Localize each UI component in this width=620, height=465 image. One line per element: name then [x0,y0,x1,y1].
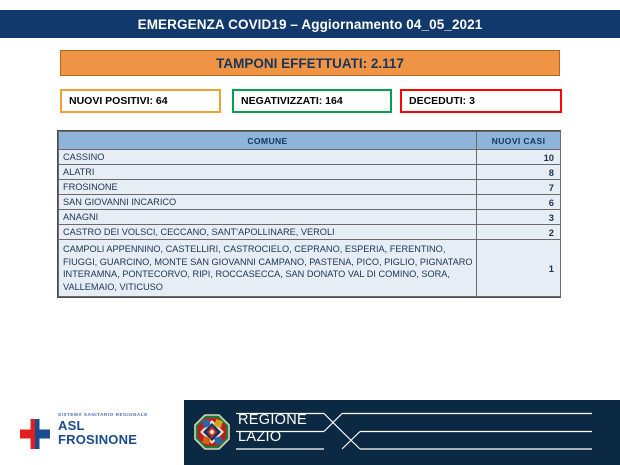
cell-comune: CASTRO DEI VOLSCI, CECCANO, SANT’APOLLIN… [59,225,477,240]
asl-frosinone-logo: SISTEMA SANITARIO REGIONALE ASL FROSINON… [20,408,175,456]
column-header-nuovi-casi: NUOVI CASI [477,132,561,150]
tamponi-effettuati-box: TAMPONI EFFETTUATI: 2.117 [60,50,560,76]
table-header-row: COMUNE NUOVI CASI [59,132,561,150]
stat-box-nuovi-positivi: NUOVI POSITIVI: 64 [60,89,221,113]
cell-comune: CAMPOLI APPENNINO, CASTELLIRI, CASTROCIE… [59,240,477,297]
table-row: ANAGNI 3 [59,210,561,225]
stat-label-deceduti: DECEDUTI: 3 [402,95,475,107]
page-title: EMERGENZA COVID19 – Aggiornamento 04_05_… [138,17,483,32]
asl-text-block: SISTEMA SANITARIO REGIONALE ASL FROSINON… [58,412,148,446]
asl-name-line-2: FROSINONE [58,433,148,447]
comuni-table: COMUNE NUOVI CASI CASSINO 10 ALATRI 8 FR… [58,131,561,297]
cell-casi: 6 [477,195,561,210]
table-row: CASSINO 10 [59,150,561,165]
medical-cross-icon [20,419,50,449]
cell-comune: ANAGNI [59,210,477,225]
table-row: CAMPOLI APPENNINO, CASTELLIRI, CASTROCIE… [59,240,561,297]
asl-name-line-1: ASL [58,419,148,433]
regione-lazio-logo: REGIONE LAZIO [194,412,594,454]
stat-box-negativizzati: NEGATIVIZZATI: 164 [232,89,392,113]
comuni-table-container: COMUNE NUOVI CASI CASSINO 10 ALATRI 8 FR… [57,130,561,298]
cell-comune: FROSINONE [59,180,477,195]
cell-comune: SAN GIOVANNI INCARICO [59,195,477,210]
cell-casi: 1 [477,240,561,297]
regione-lazio-emblem-icon [194,414,230,450]
regione-lazio-text-block: REGIONE LAZIO [238,412,307,446]
cell-casi: 3 [477,210,561,225]
statistics-row: NUOVI POSITIVI: 64 NEGATIVIZZATI: 164 DE… [60,89,562,113]
regione-lazio-line-2: LAZIO [238,429,307,446]
page-title-banner: EMERGENZA COVID19 – Aggiornamento 04_05_… [0,10,620,38]
stat-label-negativizzati: NEGATIVIZZATI: 164 [234,95,343,107]
table-row: CASTRO DEI VOLSCI, CECCANO, SANT’APOLLIN… [59,225,561,240]
cell-comune: ALATRI [59,165,477,180]
stat-box-deceduti: DECEDUTI: 3 [400,89,562,113]
cell-casi: 10 [477,150,561,165]
cell-casi: 8 [477,165,561,180]
cell-comune: CASSINO [59,150,477,165]
table-row: ALATRI 8 [59,165,561,180]
column-header-comune: COMUNE [59,132,477,150]
regione-lazio-line-1: REGIONE [238,412,307,429]
stat-label-nuovi-positivi: NUOVI POSITIVI: 64 [62,95,168,107]
tamponi-effettuati-label: TAMPONI EFFETTUATI: 2.117 [216,56,404,71]
cell-casi: 2 [477,225,561,240]
table-row: SAN GIOVANNI INCARICO 6 [59,195,561,210]
asl-system-line: SISTEMA SANITARIO REGIONALE [58,412,148,417]
table-row: FROSINONE 7 [59,180,561,195]
cell-casi: 7 [477,180,561,195]
